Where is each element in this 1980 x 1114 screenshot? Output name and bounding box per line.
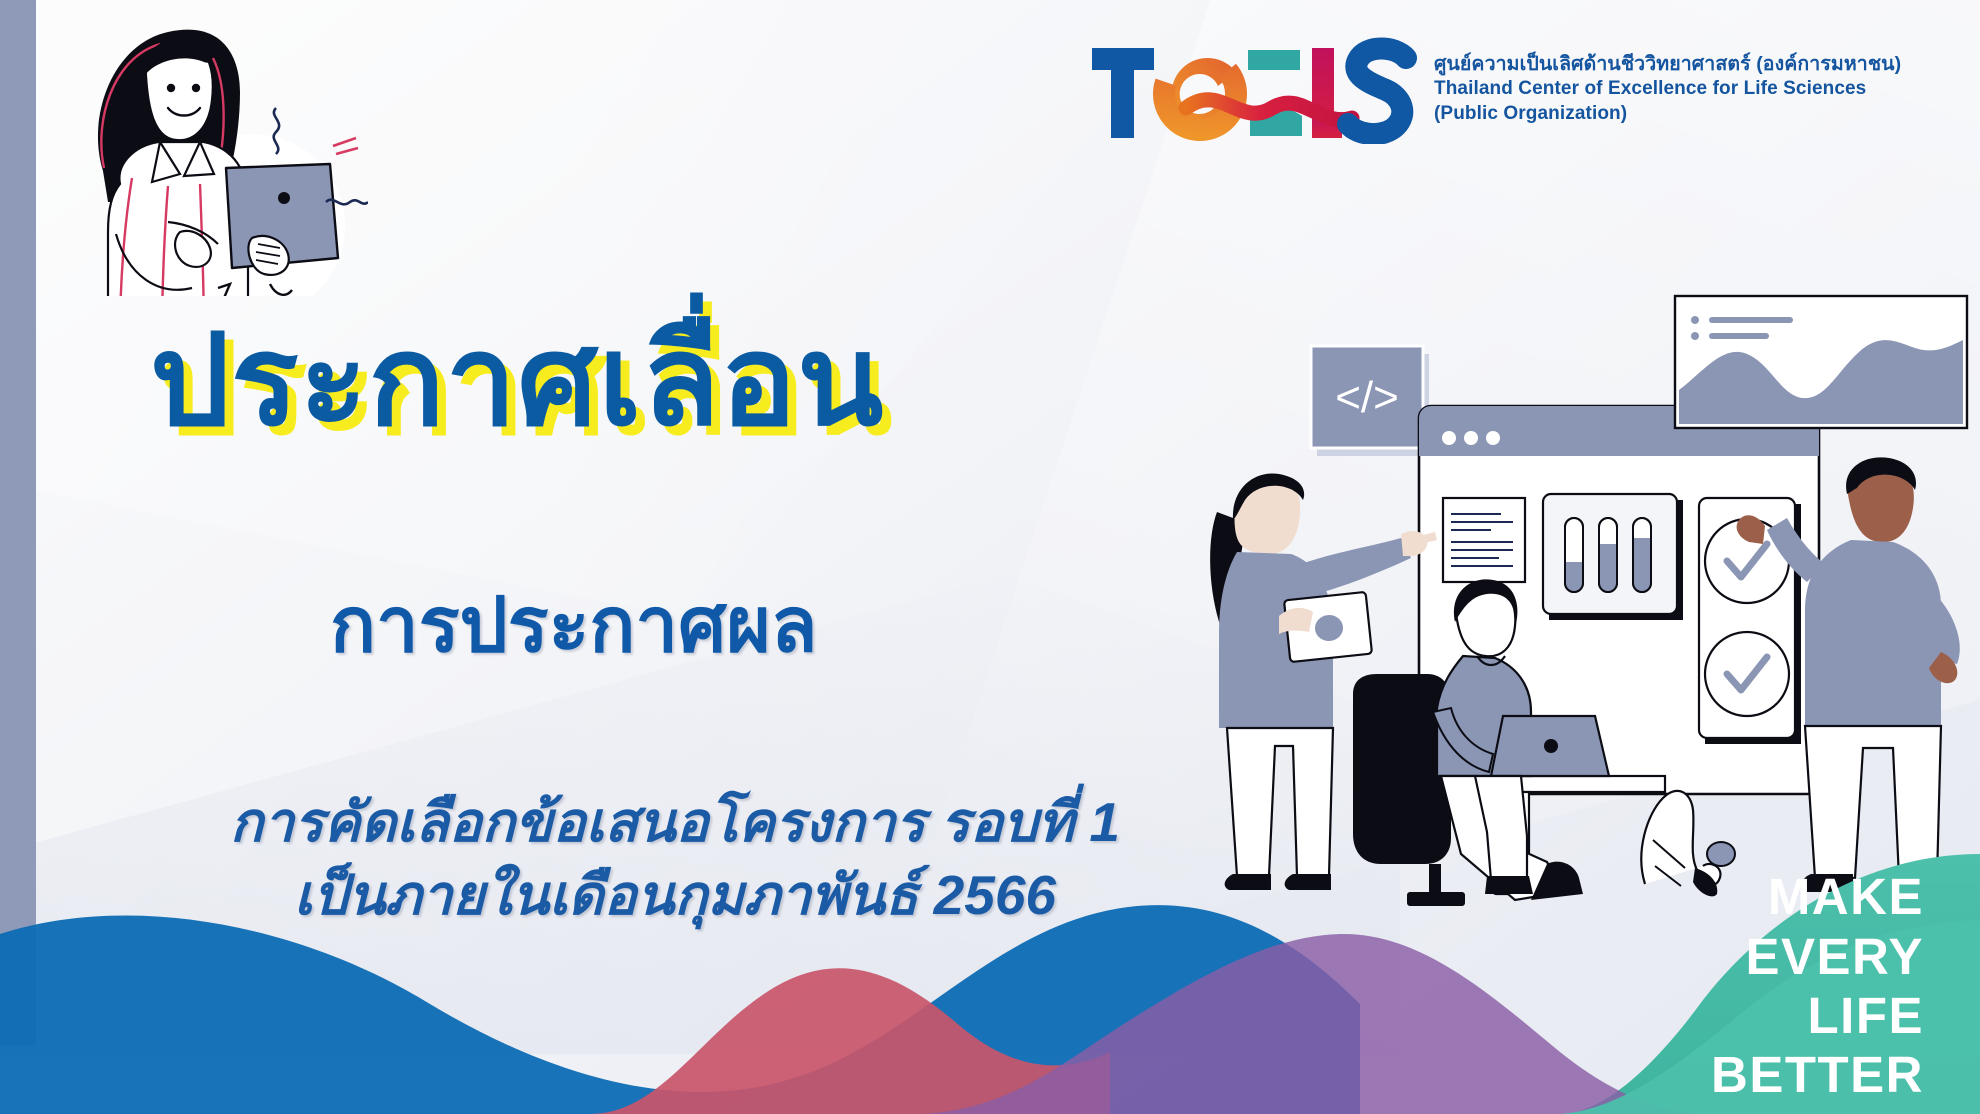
illustration-woman-with-tablet (8, 0, 368, 356)
tagline-block: MAKE EVERY LIFE BETTER (1711, 867, 1924, 1104)
code-glyph-icon: </> (1335, 373, 1399, 422)
org-name-english: Thailand Center of Excellence for Life S… (1434, 77, 1901, 102)
headline-announcement: ประกาศเลื่อน (150, 318, 884, 444)
tcels-logo-mark (1090, 32, 1420, 144)
org-type-english: (Public Organization) (1434, 102, 1901, 127)
bottom-wave-decoration (0, 814, 1980, 1114)
poster-canvas: ศูนย์ความเป็นเลิศด้านชีววิทยาศาสตร์ (องค… (0, 0, 1980, 1114)
tagline-line-1: MAKE (1711, 867, 1924, 926)
subheadline-results: การประกาศผล (330, 588, 817, 664)
tagline-line-4: BETTER (1711, 1045, 1924, 1104)
illustration-team-dashboard: </> (1175, 276, 1975, 906)
tagline-line-2: EVERY (1711, 927, 1924, 986)
org-name-thai: ศูนย์ความเป็นเลิศด้านชีววิทยาศาสตร์ (องค… (1434, 52, 1901, 77)
tcels-logo-block: ศูนย์ความเป็นเลิศด้านชีววิทยาศาสตร์ (องค… (1090, 32, 1901, 144)
tagline-line-3: LIFE (1711, 986, 1924, 1045)
